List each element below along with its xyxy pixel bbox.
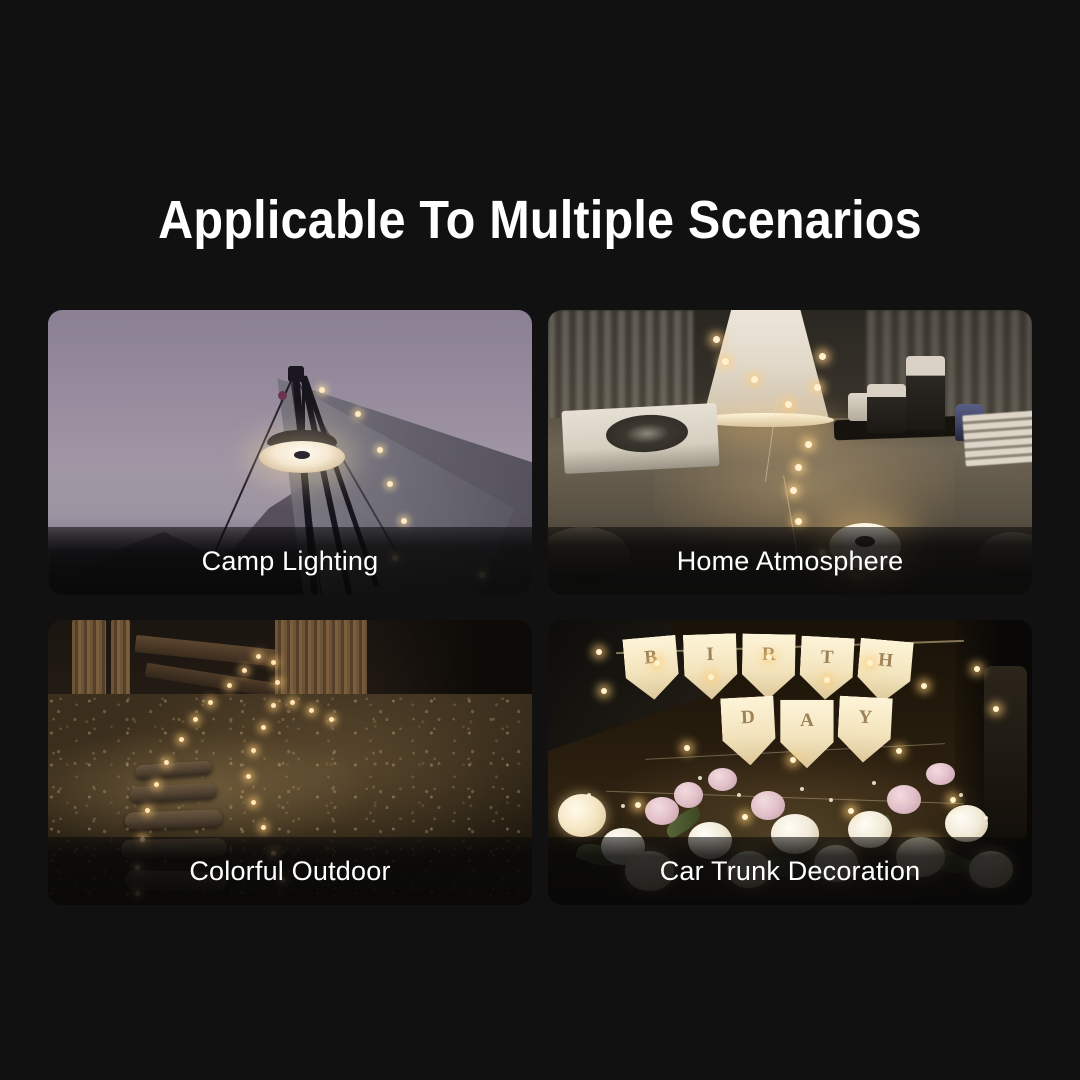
fairy-light-dot [921, 683, 927, 689]
book-stack-right [963, 410, 1032, 466]
lamp-power-button [294, 451, 310, 459]
babys-breath-dot [587, 793, 591, 797]
fairy-light-dot [742, 814, 748, 820]
string-light-dot [145, 808, 150, 813]
banner-letter: B [644, 647, 659, 670]
string-light-dot [329, 717, 334, 722]
scenario-card-home-atmosphere[interactable]: Home Atmosphere [548, 310, 1032, 595]
caption-band: Camp Lighting [48, 527, 532, 595]
stepping-stone [125, 809, 222, 829]
scenario-showcase-page: Applicable To Multiple Scenarios [0, 0, 1080, 1080]
scenario-card-colorful-outdoor[interactable]: Colorful Outdoor [48, 620, 532, 905]
scenario-caption-camp-lighting: Camp Lighting [202, 546, 379, 576]
fairy-light-dot [795, 518, 802, 525]
fairy-light-dot [684, 745, 690, 751]
page-title: Applicable To Multiple Scenarios [54, 190, 1026, 250]
fairy-light-dot [790, 487, 797, 494]
fairy-light-dot [713, 336, 720, 343]
string-light-dot [164, 760, 169, 765]
caption-band: Colorful Outdoor [48, 837, 532, 905]
fairy-light-dot [596, 649, 602, 655]
fairy-light-dot [974, 666, 980, 672]
babys-breath-dot [698, 776, 702, 780]
lamp-shade-base-glow [698, 413, 834, 427]
fairy-light-dot [993, 706, 999, 712]
scenario-card-car-trunk-decoration[interactable]: B I R T H D A [548, 620, 1032, 905]
banner-letter: D [741, 707, 756, 730]
banner-letter: A [800, 710, 814, 732]
string-light-dot [271, 660, 276, 665]
string-light-dot [179, 737, 184, 742]
car-window [984, 666, 1028, 843]
babys-breath-dot [621, 804, 625, 808]
caption-band: Car Trunk Decoration [548, 837, 1032, 905]
babys-breath-dot [984, 816, 988, 820]
babys-breath-dot [800, 787, 804, 791]
fairy-light-dot [950, 797, 956, 803]
scenario-grid: Camp Lighting [48, 310, 1032, 905]
fairy-light-dot [795, 464, 802, 471]
rose-bloom [645, 797, 679, 826]
fairy-light-dot [805, 441, 812, 448]
banner-letter: I [706, 644, 714, 666]
fairy-light-dot [766, 654, 772, 660]
banner-letter: Y [858, 707, 873, 730]
string-light-dot [290, 700, 295, 705]
fairy-light-dot [790, 757, 796, 763]
string-light-dot [251, 800, 256, 805]
fairy-light-dot [708, 674, 714, 680]
scenario-caption-car-trunk-decoration: Car Trunk Decoration [660, 856, 921, 886]
fairy-light-dot [751, 376, 758, 383]
hanging-puck-lamp [259, 430, 345, 476]
scenario-card-camp-lighting[interactable]: Camp Lighting [48, 310, 532, 595]
tall-jar [906, 356, 945, 430]
string-light-dot [208, 700, 213, 705]
rose-bloom [926, 763, 955, 786]
banner-letter: T [820, 647, 834, 670]
lamp-cord [302, 387, 305, 433]
string-light-dot [319, 387, 325, 393]
pole-top-fitting [288, 366, 304, 382]
rose-bloom [558, 794, 606, 837]
banner-letter: H [877, 649, 894, 672]
string-light-dot [271, 703, 276, 708]
scenario-caption-colorful-outdoor: Colorful Outdoor [189, 856, 390, 886]
fairy-light-dot [819, 353, 826, 360]
string-light-dot [377, 447, 383, 453]
scenario-caption-home-atmosphere: Home Atmosphere [677, 546, 904, 576]
rose-bloom [887, 785, 921, 814]
rose-bloom [674, 782, 703, 808]
fairy-light-dot [824, 677, 830, 683]
caption-band: Home Atmosphere [548, 527, 1032, 595]
string-light-dot [227, 683, 232, 688]
rose-bloom [708, 768, 737, 791]
string-light-dot [387, 481, 393, 487]
jar [867, 384, 906, 432]
